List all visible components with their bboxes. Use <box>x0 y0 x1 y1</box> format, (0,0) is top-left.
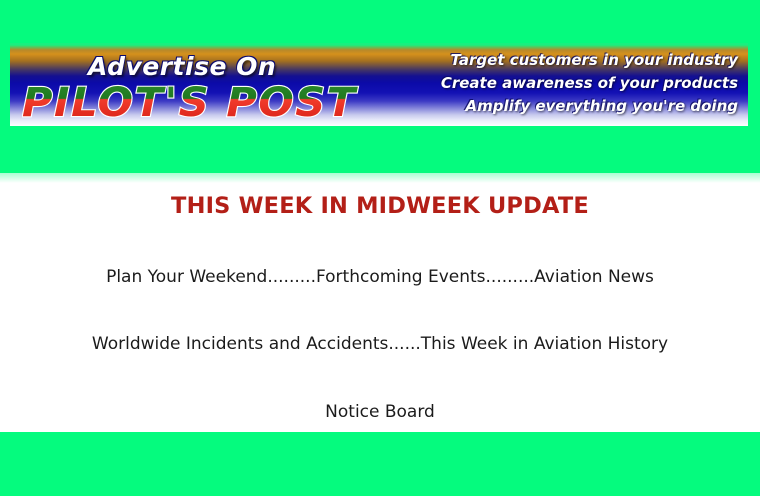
contents-line-1: Plan Your Weekend.........Forthcoming Ev… <box>0 267 760 287</box>
banner-headline-advertise-on: Advertise On <box>88 52 276 81</box>
banner-taglines: Target customers in your industry Create… <box>408 49 738 118</box>
pilots-post-logo-graphic: PILOT'S POST <box>22 80 382 124</box>
top-green-band: Advertise On PILOT'S POST <box>0 0 760 173</box>
svg-text:PILOT'S POST: PILOT'S POST <box>22 80 358 124</box>
contents-line-2: Worldwide Incidents and Accidents......T… <box>0 334 760 354</box>
page-title: THIS WEEK IN MIDWEEK UPDATE <box>0 193 760 219</box>
tagline-2: Create awareness of your products <box>408 72 738 95</box>
content-top-fade <box>0 173 760 183</box>
newsletter-content: THIS WEEK IN MIDWEEK UPDATE Plan Your We… <box>0 173 760 432</box>
pilots-post-logo: PILOT'S POST <box>22 80 382 124</box>
tagline-3: Amplify everything you're doing <box>408 95 738 118</box>
advertise-banner[interactable]: Advertise On PILOT'S POST <box>10 43 748 126</box>
bottom-green-band <box>0 432 760 496</box>
tagline-1: Target customers in your industry <box>408 49 738 72</box>
contents-line-3: Notice Board <box>0 402 760 422</box>
newsletter-page: Advertise On PILOT'S POST <box>0 0 760 496</box>
banner-brand-block: Advertise On PILOT'S POST <box>10 43 400 126</box>
